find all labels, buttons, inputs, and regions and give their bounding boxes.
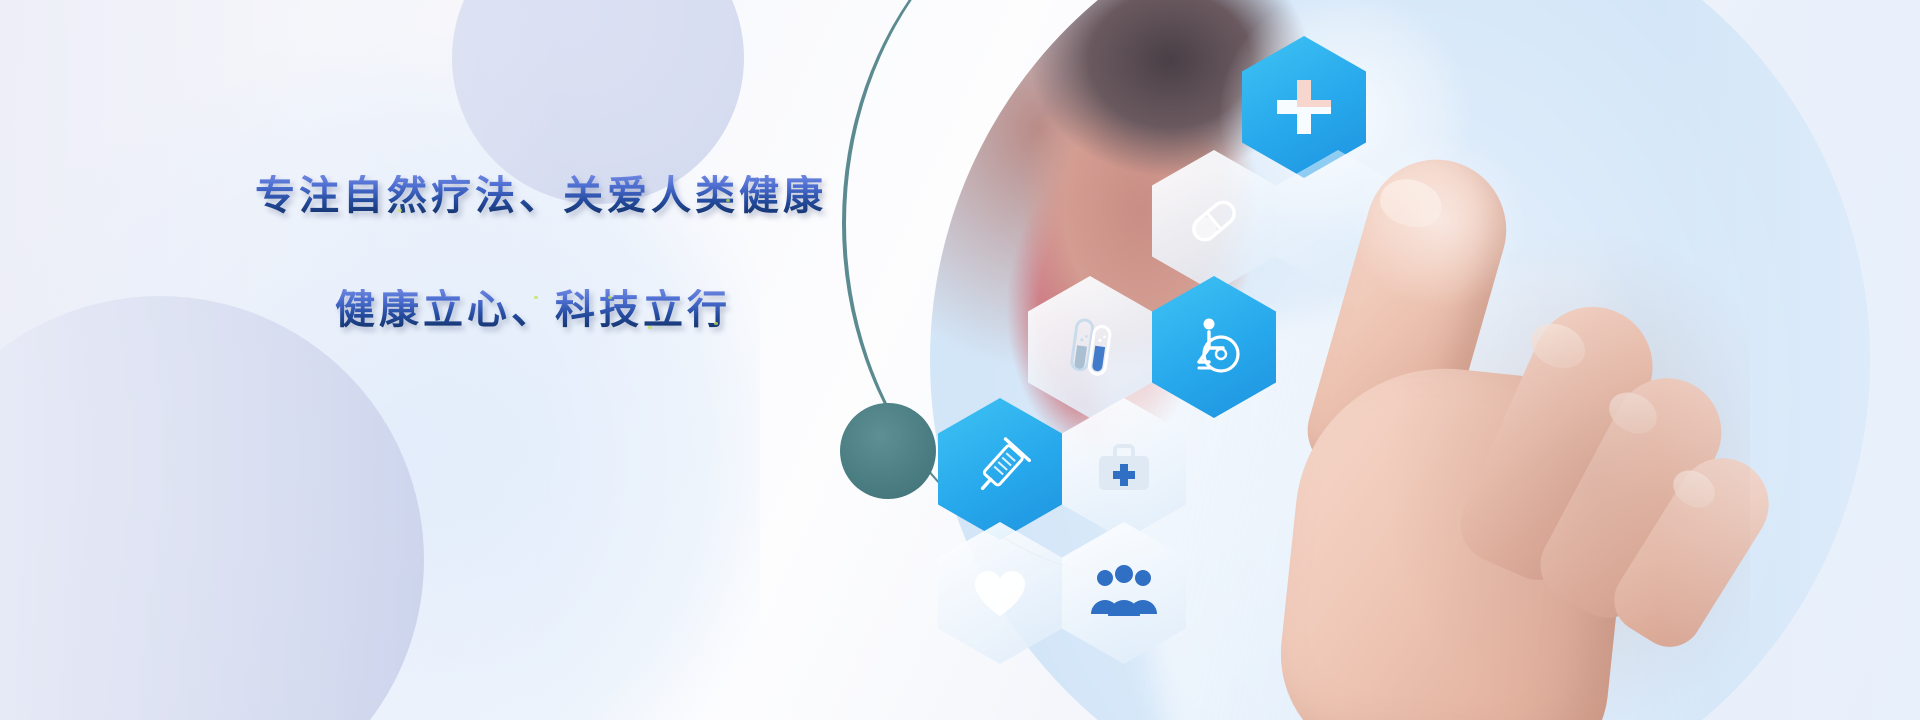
speck-3: [714, 322, 718, 325]
headline-block: 专注自然疗法、关爱人类健康 健康立心、科技立行: [255, 175, 895, 331]
fingertip-glow: [1350, 130, 1530, 310]
headline-line-1: 专注自然疗法、关爱人类健康: [255, 175, 895, 217]
speck-1: [608, 296, 612, 299]
syringe-icon: [964, 433, 1036, 505]
hex-tile-syringe[interactable]: [938, 398, 1062, 540]
hex-tile-people[interactable]: [1062, 522, 1186, 664]
speck-2: [648, 326, 652, 329]
hex-tile-kit[interactable]: [1062, 398, 1186, 540]
speck-4: [534, 296, 538, 299]
people-group-icon: [1089, 562, 1159, 624]
headline-line-2: 健康立心、科技立行: [335, 289, 895, 331]
hex-tile-testtube[interactable]: [1028, 276, 1152, 418]
heart-icon: [969, 562, 1031, 624]
speck-0: [398, 209, 402, 212]
medical-kit-icon: [1091, 436, 1157, 502]
hex-tile-heart[interactable]: [938, 522, 1062, 664]
right-edge-fade: [1660, 0, 1920, 720]
left-vignette: [0, 0, 560, 720]
test-tubes-icon: [1054, 311, 1126, 383]
hero-banner: 专注自然疗法、关爱人类健康 健康立心、科技立行: [0, 0, 1920, 720]
speck-5: [726, 199, 730, 202]
